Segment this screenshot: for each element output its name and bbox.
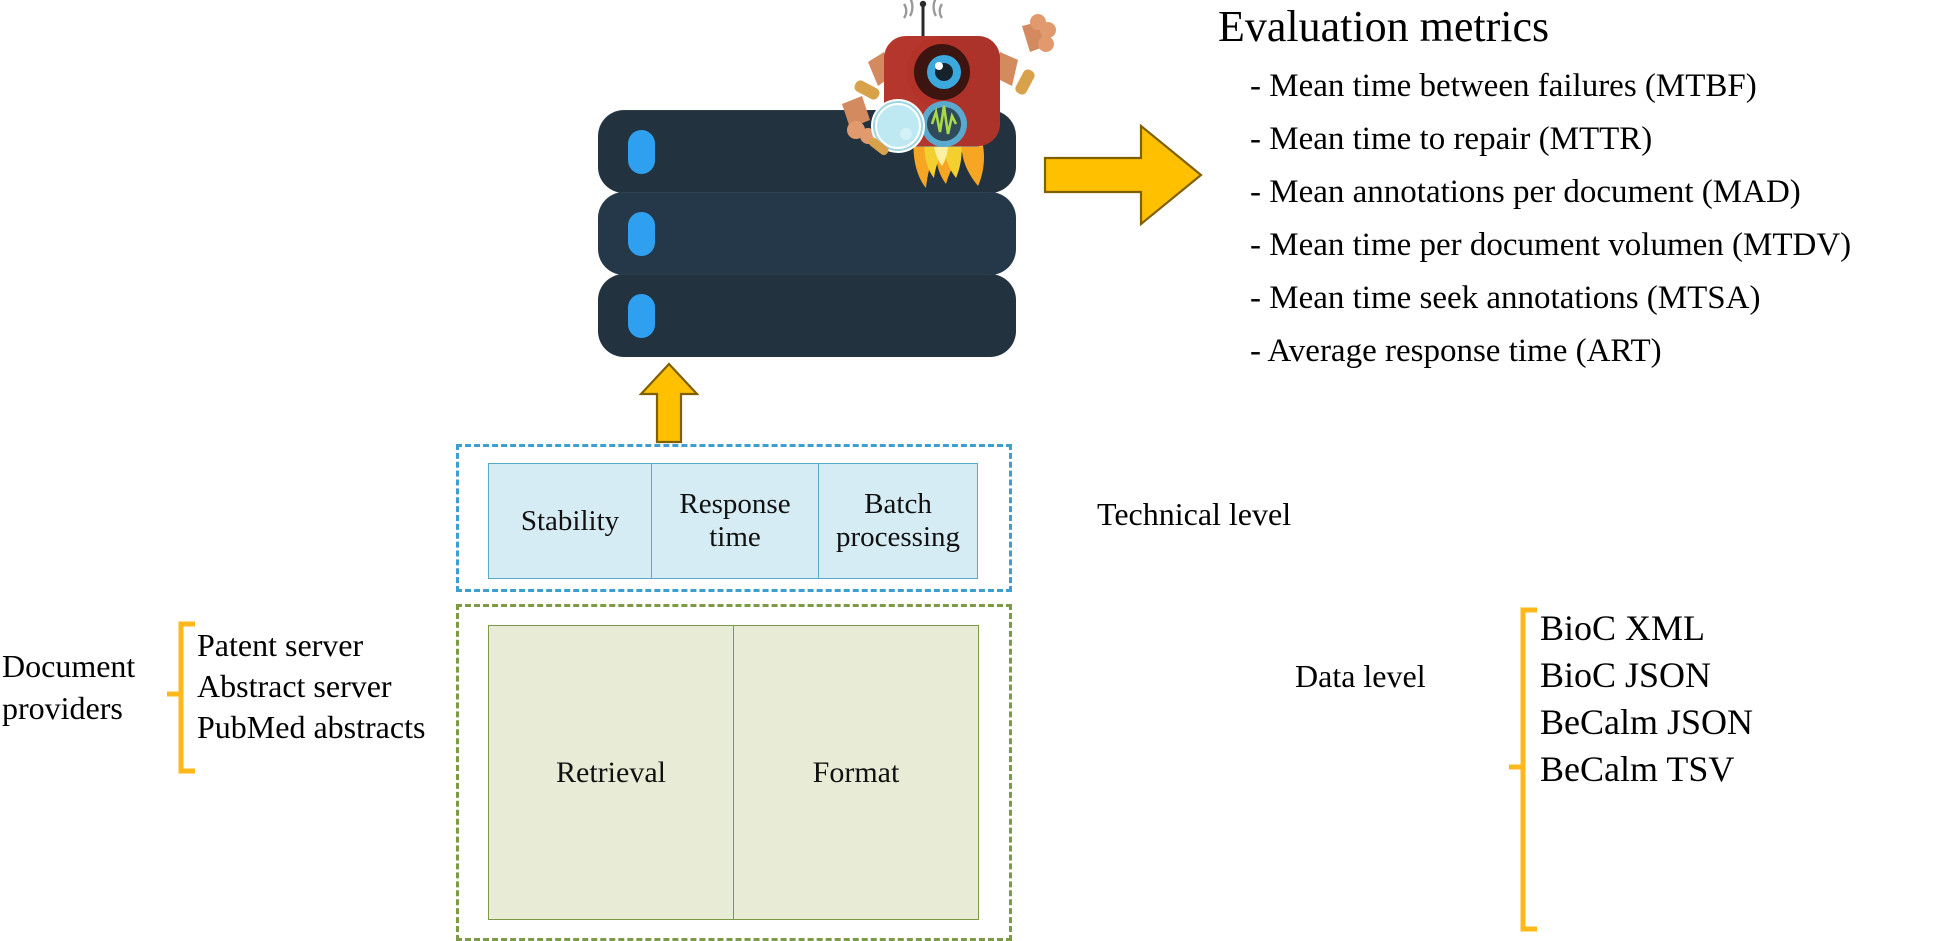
diagram-canvas: Evaluation metrics - Mean time between f…: [0, 0, 1937, 941]
metric-item: - Mean time to repair (MTTR): [1218, 120, 1937, 158]
metric-item: - Average response time (ART): [1218, 332, 1937, 370]
metric-item: - Mean time seek annotations (MTSA): [1218, 279, 1937, 317]
server-unit: [598, 192, 1016, 275]
metric-item: - Mean time between failures (MTBF): [1218, 67, 1937, 105]
technical-cell-label: Responsetime: [679, 488, 790, 554]
robot-right-arm: [996, 14, 1056, 96]
data-level-label: Data level: [1295, 657, 1426, 695]
technical-cell-response-time: Responsetime: [651, 463, 819, 579]
data-cell-label: Format: [813, 756, 900, 790]
technical-cell-label: Stability: [521, 505, 619, 538]
arrow-right-icon: [1043, 120, 1203, 230]
metric-item: - Mean time per document volumen (MTDV): [1218, 226, 1937, 264]
page-title: Evaluation metrics: [1218, 0, 1937, 52]
technical-cell-label: Batchprocessing: [836, 488, 960, 554]
document-providers-list: Patent server Abstract server PubMed abs…: [197, 625, 425, 748]
document-providers-label: Document providers: [2, 645, 162, 729]
curly-brace-icon: [1505, 607, 1537, 932]
server-unit: [598, 274, 1016, 357]
data-cell-retrieval: Retrieval: [488, 625, 734, 920]
technical-level-label: Technical level: [1097, 495, 1291, 533]
curly-brace-icon: [163, 621, 195, 774]
list-item: BeCalm TSV: [1540, 746, 1753, 793]
technical-level-cells: Stability Responsetime Batchprocessing: [488, 463, 980, 579]
data-level-cells: Retrieval Format: [488, 625, 980, 920]
server-led-icon: [628, 294, 655, 338]
list-item: BeCalm JSON: [1540, 699, 1753, 746]
data-cell-format: Format: [733, 625, 979, 920]
data-formats-list: BioC XML BioC JSON BeCalm JSON BeCalm TS…: [1540, 605, 1753, 793]
list-item: Patent server: [197, 625, 425, 666]
robot-icon: [840, 0, 1060, 190]
server-led-icon: [628, 212, 655, 256]
list-item: PubMed abstracts: [197, 707, 425, 748]
arrow-up-icon: [638, 362, 700, 444]
list-item: BioC JSON: [1540, 652, 1753, 699]
metric-item: - Mean annotations per document (MAD): [1218, 173, 1937, 211]
list-item: BioC XML: [1540, 605, 1753, 652]
server-led-icon: [628, 130, 655, 174]
technical-cell-batch-processing: Batchprocessing: [818, 463, 978, 579]
list-item: Abstract server: [197, 666, 425, 707]
evaluation-metrics-panel: Evaluation metrics - Mean time between f…: [1218, 0, 1937, 370]
data-cell-label: Retrieval: [556, 756, 666, 790]
document-providers-label-line2: providers: [2, 687, 162, 729]
technical-cell-stability: Stability: [488, 463, 652, 579]
document-providers-label-line1: Document: [2, 645, 162, 687]
